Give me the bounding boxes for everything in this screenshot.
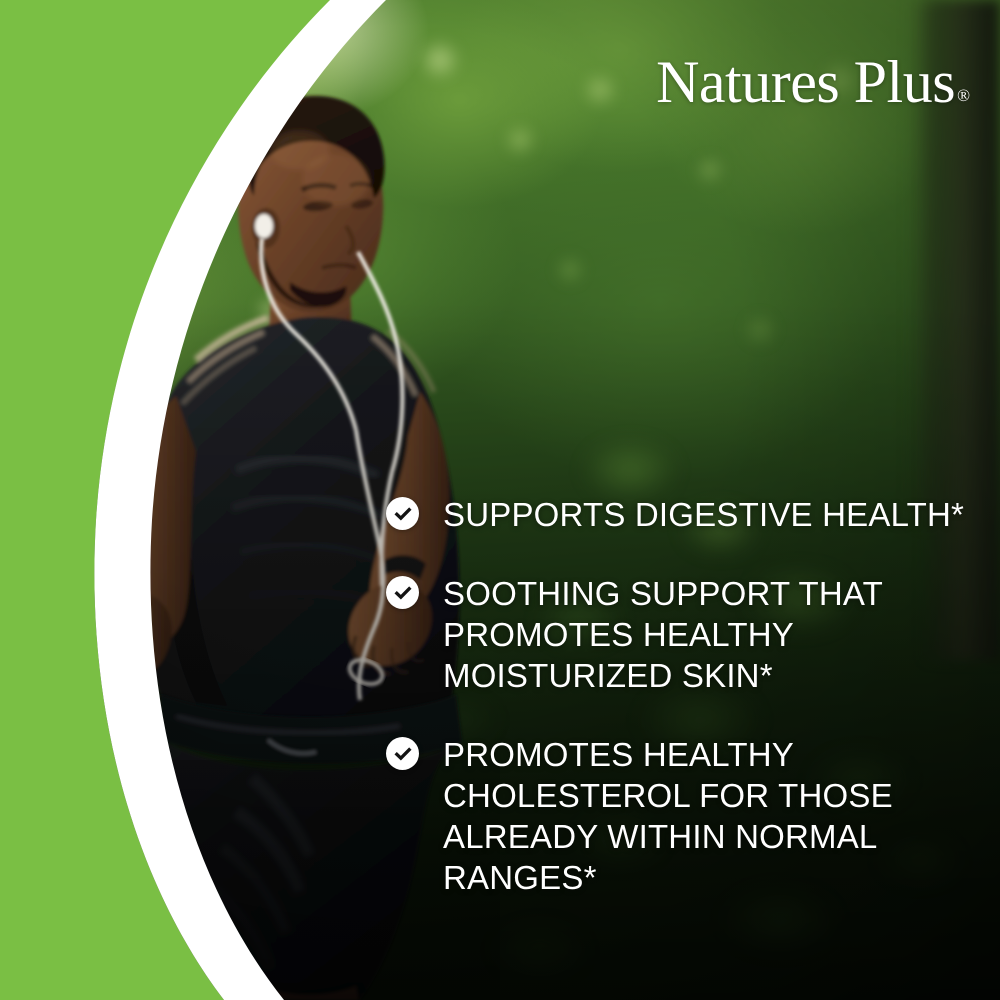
list-item: Promotes Healthy Cholesterol For Those A… — [386, 734, 976, 898]
product-benefit-banner: Natures Plus® Supports Digestive Health*… — [0, 0, 1000, 1000]
check-circle-icon — [386, 737, 419, 770]
list-item: Soothing Support That Promotes Healthy M… — [386, 573, 976, 696]
benefit-text: Promotes Healthy Cholesterol For Those A… — [443, 734, 893, 898]
brand-logo: Natures Plus® — [620, 52, 970, 118]
benefit-text: Supports Digestive Health* — [443, 494, 964, 535]
list-item: Supports Digestive Health* — [386, 494, 976, 535]
check-circle-icon — [386, 576, 419, 609]
benefit-list: Supports Digestive Health* Soothing Supp… — [386, 494, 976, 898]
brand-logo-text: Natures Plus — [656, 52, 955, 112]
check-circle-icon — [386, 497, 419, 530]
benefit-text: Soothing Support That Promotes Healthy M… — [443, 573, 883, 696]
registered-trademark-icon: ® — [957, 87, 970, 104]
